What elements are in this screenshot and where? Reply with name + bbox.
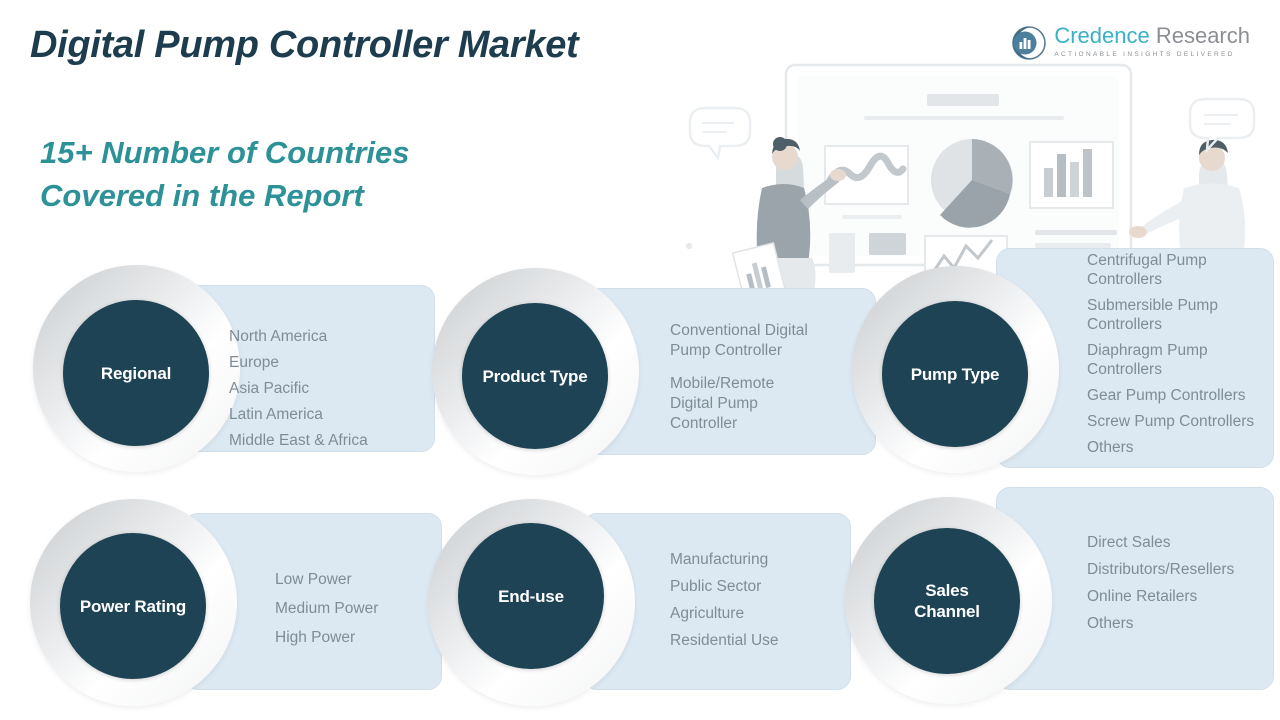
list-item: Direct Sales: [1087, 533, 1280, 552]
card-label-product-type: Product Type: [483, 366, 588, 387]
list-item: Submersible Pump Controllers: [1087, 296, 1280, 334]
page-subtitle: 15+ Number of Countries Covered in the R…: [40, 131, 410, 217]
list-item: Middle East & Africa: [229, 431, 429, 450]
list-item: Others: [1087, 614, 1280, 633]
card-list-regional: North America Europe Asia Pacific Latin …: [229, 327, 429, 450]
list-item: Manufacturing: [670, 550, 860, 569]
list-item: Centrifugal Pump Controllers: [1087, 251, 1280, 289]
list-item: Europe: [229, 353, 429, 372]
list-item: Residential Use: [670, 631, 860, 650]
logo-word-credence: Credence: [1054, 23, 1149, 48]
logo-wordmark: Credence Research: [1054, 24, 1250, 48]
list-item: Diaphragm Pump Controllers: [1087, 341, 1280, 379]
card-circle-pump-type[interactable]: Pump Type: [882, 301, 1028, 447]
card-label-regional: Regional: [101, 363, 171, 384]
card-circle-sales-channel[interactable]: Sales Channel: [874, 528, 1020, 674]
list-item: Gear Pump Controllers: [1087, 386, 1280, 405]
list-item: North America: [229, 327, 429, 346]
card-label-power-rating: Power Rating: [80, 596, 186, 617]
brand-logo: Credence Research Actionable Insights De…: [1012, 24, 1250, 60]
logo-tagline: Actionable Insights Delivered: [1054, 51, 1250, 58]
card-circle-product-type[interactable]: Product Type: [462, 303, 608, 449]
list-item: High Power: [275, 628, 455, 647]
list-item: Agriculture: [670, 604, 860, 623]
list-item: Latin America: [229, 405, 429, 424]
page-title: Digital Pump Controller Market: [30, 24, 578, 67]
list-item: Asia Pacific: [229, 379, 429, 398]
list-item: Screw Pump Controllers: [1087, 412, 1280, 431]
list-item: Online Retailers: [1087, 587, 1280, 606]
list-item: Distributors/Resellers: [1087, 560, 1280, 579]
card-label-pump-type: Pump Type: [911, 364, 1000, 385]
list-item: Mobile/Remote Digital Pump Controller: [670, 374, 875, 434]
card-circle-regional[interactable]: Regional: [63, 300, 209, 446]
bar-chart-logo-icon: [1012, 26, 1046, 60]
card-label-sales-channel: Sales Channel: [914, 580, 980, 622]
list-item: Low Power: [275, 570, 455, 589]
list-item: Others: [1087, 438, 1280, 457]
card-list-end-use: Manufacturing Public Sector Agriculture …: [670, 550, 860, 650]
card-circle-end-use[interactable]: End-use: [458, 523, 604, 669]
list-item: Public Sector: [670, 577, 860, 596]
logo-word-research: Research: [1150, 23, 1250, 48]
card-list-sales-channel: Direct Sales Distributors/Resellers Onli…: [1087, 533, 1280, 633]
list-item: Conventional Digital Pump Controller: [670, 321, 875, 361]
logo-text: Credence Research Actionable Insights De…: [1054, 24, 1250, 58]
card-circle-power-rating[interactable]: Power Rating: [60, 533, 206, 679]
card-list-pump-type: Centrifugal Pump Controllers Submersible…: [1087, 251, 1280, 457]
card-list-product-type: Conventional Digital Pump Controller Mob…: [670, 321, 875, 434]
card-label-end-use: End-use: [498, 586, 564, 607]
